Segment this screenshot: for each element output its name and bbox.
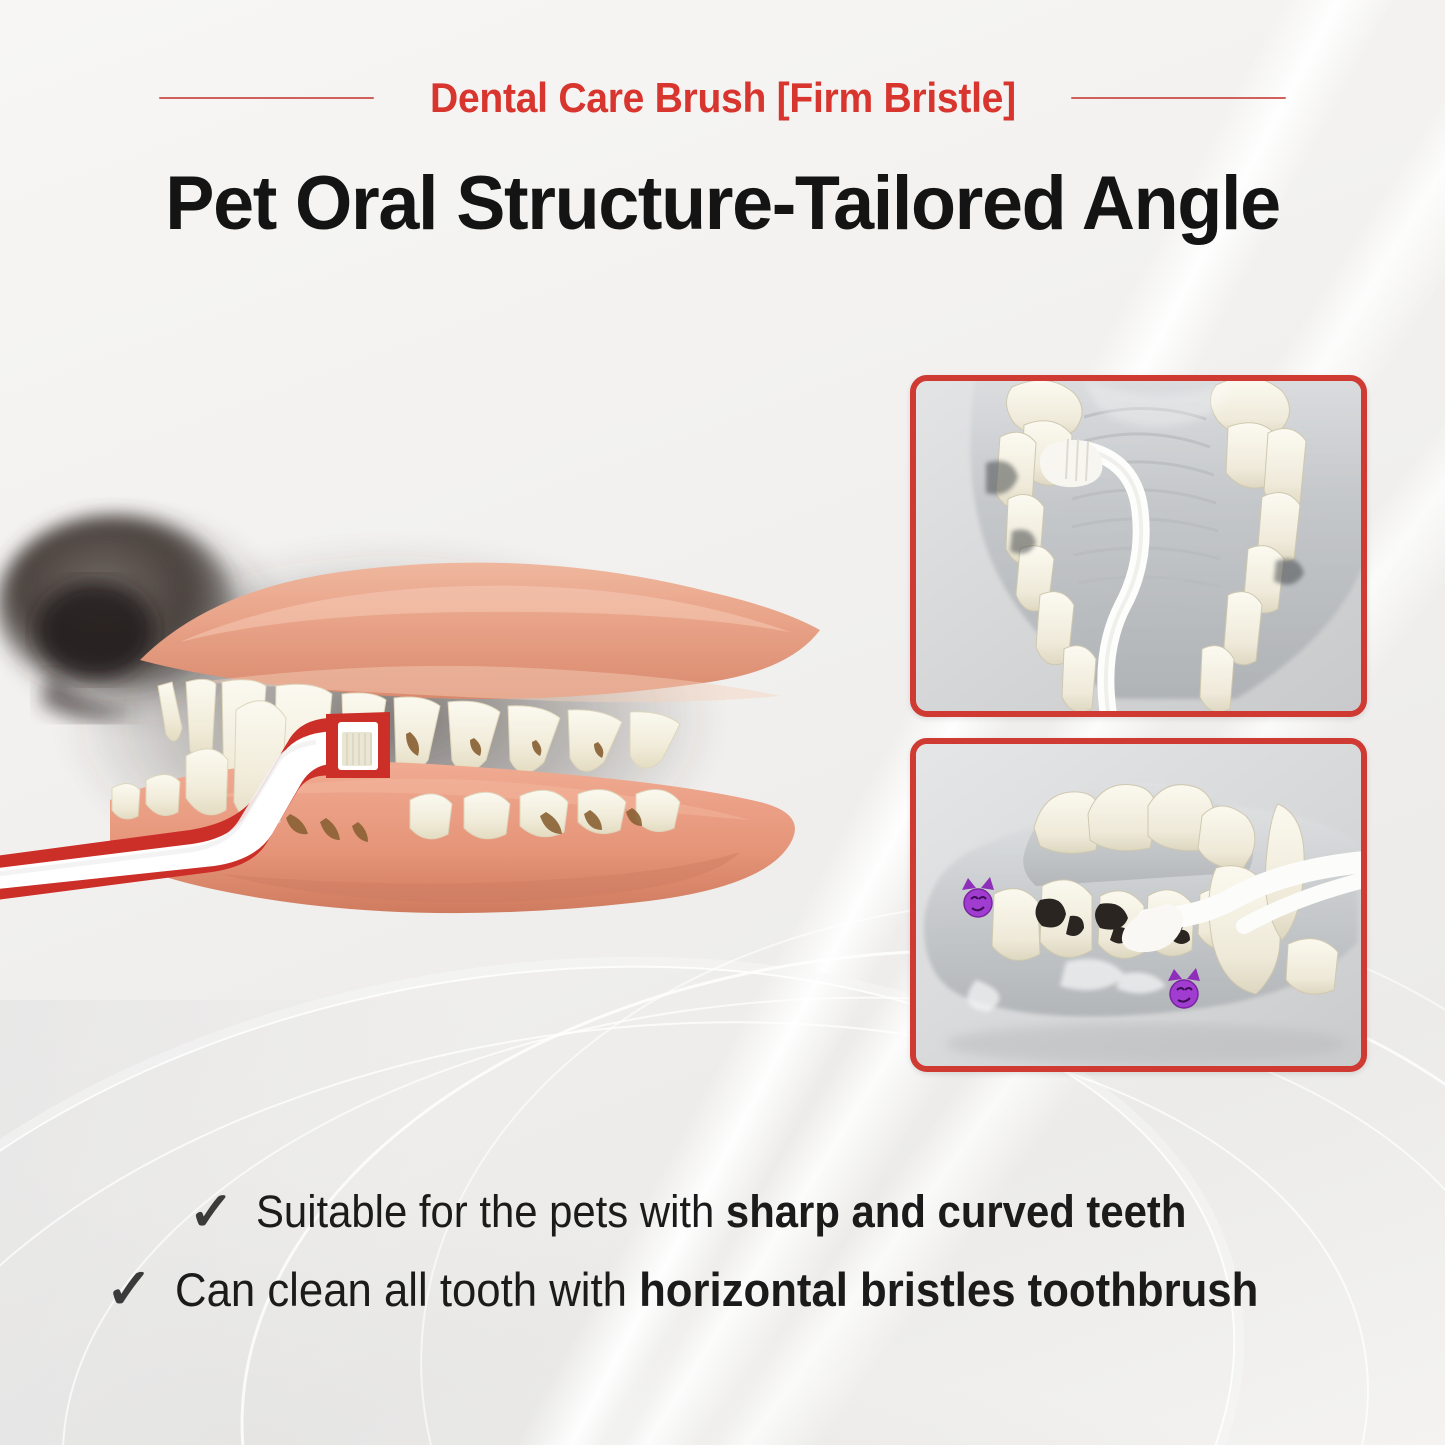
- bullet-strong-1: sharp and curved teeth: [726, 1186, 1186, 1237]
- page-title: Pet Oral Structure-Tailored Angle: [22, 160, 1424, 247]
- dog-mouth-illustration: [0, 470, 840, 940]
- bullet-text-2: Can clean all tooth with horizontal bris…: [175, 1262, 1258, 1317]
- feature-list: ✓ Suitable for the pets with sharp and c…: [0, 1185, 1445, 1317]
- eyebrow-row: Dental Care Brush [Firm Bristle]: [0, 74, 1445, 122]
- bullet-lead-2: Can clean all tooth with: [175, 1263, 639, 1316]
- list-item: ✓ Can clean all tooth with horizontal br…: [0, 1261, 1445, 1317]
- check-icon: ✓: [106, 1261, 153, 1317]
- list-item: ✓ Suitable for the pets with sharp and c…: [0, 1185, 1445, 1239]
- check-icon: ✓: [189, 1185, 234, 1239]
- toothbrush-head: [1040, 440, 1103, 487]
- rule-left-icon: [159, 97, 374, 99]
- bullet-lead-1: Suitable for the pets with: [256, 1186, 726, 1237]
- rule-right-icon: [1071, 97, 1286, 99]
- bullet-text-1: Suitable for the pets with sharp and cur…: [256, 1186, 1186, 1238]
- dental-model-side-view[interactable]: [910, 738, 1367, 1072]
- product-infographic: Dental Care Brush [Firm Bristle] Pet Ora…: [0, 0, 1445, 1445]
- eyebrow-text: Dental Care Brush [Firm Bristle]: [430, 74, 1016, 122]
- bullet-strong-2: horizontal bristles toothbrush: [639, 1263, 1258, 1316]
- dental-model-top-view[interactable]: [910, 375, 1367, 717]
